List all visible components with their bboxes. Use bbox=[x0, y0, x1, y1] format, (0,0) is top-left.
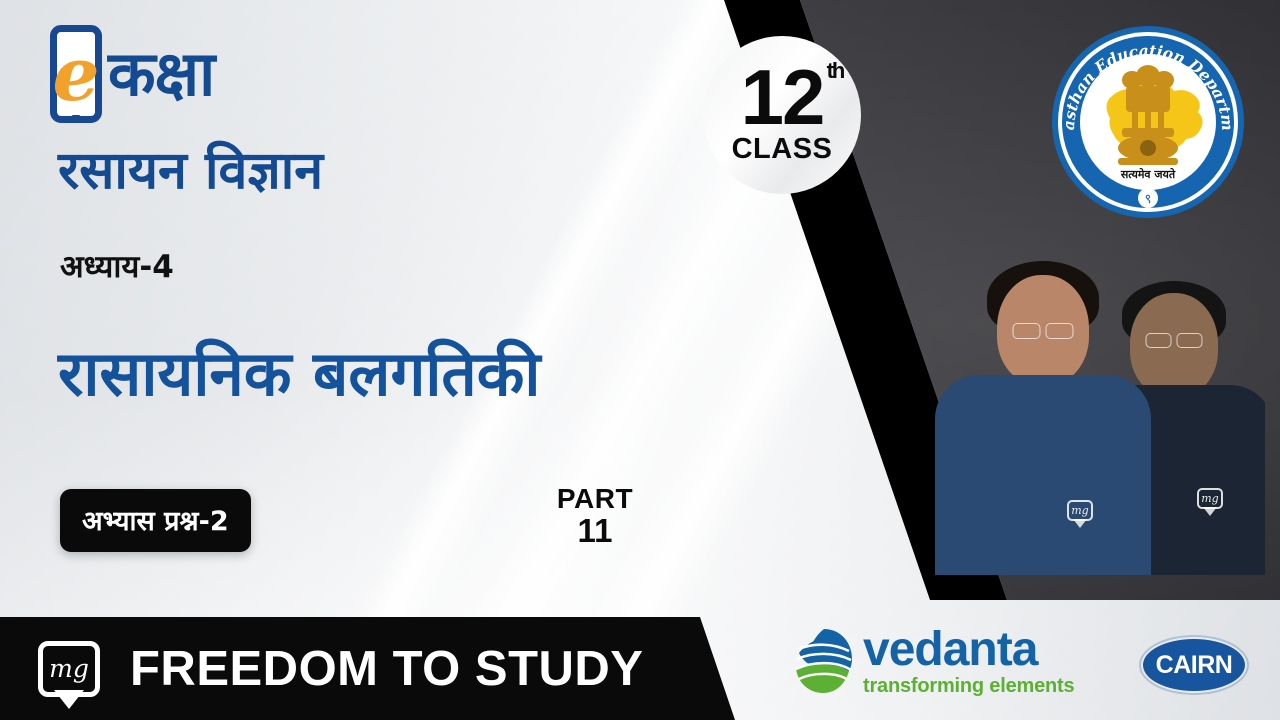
svg-text:९: ९ bbox=[1145, 192, 1152, 207]
mobile-phone-icon: e bbox=[50, 25, 102, 123]
vedanta-tagline: transforming elements bbox=[863, 675, 1074, 698]
part-label: PART bbox=[505, 485, 685, 514]
mg-logo-text: mg bbox=[49, 654, 89, 683]
mg-board-icon: mg bbox=[38, 641, 100, 697]
footer-banner: mg FREEDOM TO STUDY bbox=[0, 617, 760, 720]
brand-logo: e कक्षा bbox=[50, 25, 214, 123]
vedanta-name: vedanta bbox=[863, 627, 1074, 673]
subject-title: रसायन विज्ञान bbox=[58, 133, 323, 204]
rajasthan-education-department-seal: Rajasthan Education Department सत्यमेव ज… bbox=[1048, 22, 1248, 222]
class-badge: 12 th CLASS bbox=[703, 36, 861, 194]
question-badge: अभ्यास प्रश्न-2 bbox=[60, 489, 251, 552]
slide-canvas: e कक्षा रसायन विज्ञान अध्याय-4 रासायनिक … bbox=[0, 0, 1280, 720]
seal-motto: सत्यमेव जयते bbox=[1120, 167, 1176, 181]
vedanta-mark-icon bbox=[793, 627, 855, 695]
class-ordinal: th bbox=[827, 62, 844, 81]
chapter-label: अध्याय-4 bbox=[60, 245, 174, 287]
brand-letter-e: e bbox=[52, 49, 99, 102]
phone-speaker bbox=[66, 28, 86, 31]
instructor-photos: mg mg bbox=[935, 237, 1265, 575]
page-title: रासायनिक बलगतिकी bbox=[58, 330, 540, 414]
instructor-female: mg bbox=[935, 245, 1150, 575]
cairn-name: CAIRN bbox=[1156, 651, 1233, 680]
class-number-text: 12 bbox=[741, 53, 824, 141]
part-number: 11 bbox=[505, 514, 685, 548]
seal-bottom-emblem: ९ bbox=[1138, 188, 1158, 208]
phone-home-button bbox=[72, 115, 81, 121]
sponsor-cairn: CAIRN bbox=[1141, 637, 1247, 693]
footer-tagline: FREEDOM TO STUDY bbox=[130, 641, 643, 697]
mg-chest-logo: mg bbox=[1067, 500, 1093, 521]
sponsor-vedanta: vedanta transforming elements bbox=[793, 627, 1074, 698]
part-indicator: PART 11 bbox=[505, 485, 685, 547]
class-number: 12 th bbox=[741, 64, 824, 131]
mg-chest-logo: mg bbox=[1197, 488, 1223, 509]
brand-name: कक्षा bbox=[108, 43, 214, 105]
